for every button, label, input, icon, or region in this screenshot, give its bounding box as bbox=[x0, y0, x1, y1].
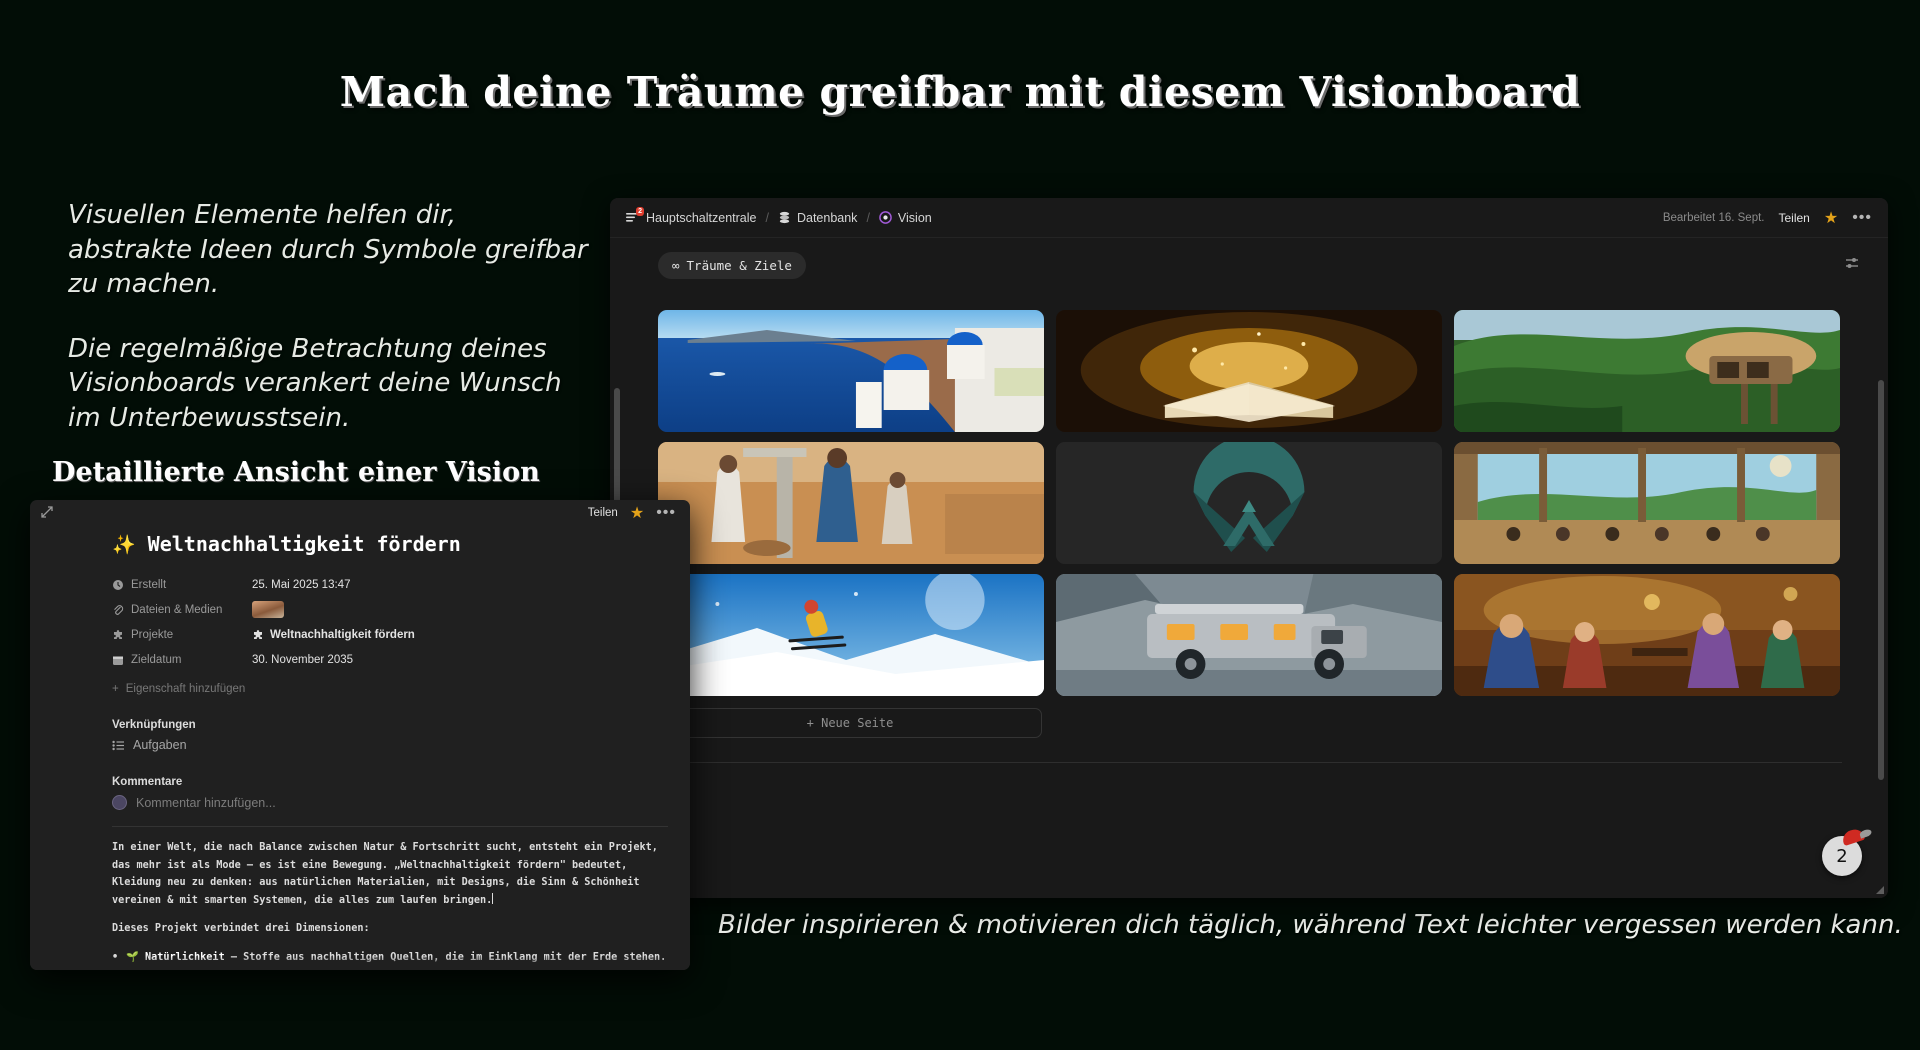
detail-share-button[interactable]: Teilen bbox=[588, 507, 618, 519]
left-section-heading: Detaillierte Ansicht einer Vision bbox=[52, 457, 540, 488]
tab-traeume-und-ziele[interactable]: ∞ Träume & Ziele bbox=[658, 252, 806, 279]
gallery-card-jungle-treehouse[interactable] bbox=[1454, 310, 1840, 432]
database-icon bbox=[778, 211, 791, 224]
property-value[interactable]: Weltnachhaltigkeit fördern bbox=[252, 629, 415, 641]
puzzle-icon bbox=[252, 629, 264, 641]
gallery-card-skiing-snow[interactable] bbox=[658, 574, 1044, 696]
avatar-initial: 2 bbox=[1836, 846, 1847, 867]
detail-panel-content: ✨ Weltnachhaltigkeit fördern Erstellt 25… bbox=[30, 526, 690, 966]
gallery-app-window: 2 Hauptschaltzentrale / Datenbank / bbox=[610, 198, 1888, 898]
sliders-filter-icon[interactable] bbox=[1844, 255, 1860, 276]
detail-title-text: Weltnachhaltigkeit fördern bbox=[148, 532, 461, 556]
content-clip-fade bbox=[30, 956, 690, 970]
last-edited-label: Bearbeitet 16. Sept. bbox=[1663, 212, 1765, 224]
tab-label: Träume & Ziele bbox=[687, 258, 792, 273]
property-key-label: Dateien & Medien bbox=[131, 604, 222, 616]
gallery-scrollbar-right[interactable] bbox=[1878, 380, 1884, 780]
glowing-book-thumbnail bbox=[1056, 310, 1442, 432]
detail-title: ✨ Weltnachhaltigkeit fördern bbox=[112, 532, 668, 556]
file-thumbnail[interactable] bbox=[252, 601, 284, 618]
santa-hat-icon bbox=[1841, 827, 1866, 846]
breadcrumb-label: Datenbank bbox=[797, 211, 857, 225]
task-list-icon bbox=[112, 739, 125, 752]
body-paragraph-1: In einer Welt, die nach Balance zwischen… bbox=[112, 839, 668, 909]
overland-camper-thumbnail bbox=[1056, 574, 1442, 696]
avatar bbox=[112, 795, 127, 810]
resize-handle[interactable] bbox=[1876, 886, 1884, 894]
gallery-card-artisan-workshop[interactable] bbox=[1454, 574, 1840, 696]
gallery-card-glowing-book[interactable] bbox=[1056, 310, 1442, 432]
avatar[interactable]: 2 bbox=[1822, 836, 1862, 876]
gallery-card-teal-logo-mark[interactable] bbox=[1056, 442, 1442, 564]
view-tab-row: ∞ Träume & Ziele bbox=[610, 238, 1888, 287]
property-value bbox=[252, 601, 284, 618]
gallery-card-overland-camper[interactable] bbox=[1056, 574, 1442, 696]
breadcrumb-label: Vision bbox=[898, 211, 932, 225]
calendar-icon bbox=[112, 654, 124, 666]
breadcrumb-item-vision[interactable]: Vision bbox=[879, 211, 932, 225]
property-key: Projekte bbox=[112, 629, 252, 641]
add-comment-row[interactable]: Kommentar hinzufügen... bbox=[112, 795, 668, 810]
breadcrumb-item-datenbank[interactable]: Datenbank bbox=[778, 211, 857, 225]
vision-detail-panel: Teilen ★ ••• ✨ Weltnachhaltigkeit förder… bbox=[30, 500, 690, 970]
breadcrumb-separator: / bbox=[765, 211, 768, 225]
text-caret bbox=[492, 893, 493, 904]
yoga-retreat-hall-thumbnail bbox=[1454, 442, 1840, 564]
property-value: 30. November 2035 bbox=[252, 654, 353, 666]
water-well-africa-thumbnail bbox=[658, 442, 1044, 564]
artisan-workshop-thumbnail bbox=[1454, 574, 1840, 696]
share-button[interactable]: Teilen bbox=[1778, 211, 1809, 225]
santorini-greece-thumbnail bbox=[658, 310, 1044, 432]
content-divider bbox=[652, 762, 1842, 763]
add-property-label: Eigenschaft hinzufügen bbox=[126, 683, 246, 695]
topbar-actions: Bearbeitet 16. Sept. Teilen ★ ••• bbox=[1663, 208, 1872, 228]
star-icon[interactable]: ★ bbox=[1824, 208, 1838, 228]
breadcrumb-label: Hauptschaltzentrale bbox=[646, 211, 756, 225]
body-paragraph-2: Dieses Projekt verbindet drei Dimensione… bbox=[112, 920, 668, 938]
detail-body-text[interactable]: In einer Welt, die nach Balance zwischen… bbox=[112, 839, 668, 966]
breadcrumb-item-hauptschaltzentrale[interactable]: 2 Hauptschaltzentrale bbox=[624, 210, 756, 226]
property-key: Dateien & Medien bbox=[112, 604, 252, 616]
property-key-label: Zieldatum bbox=[131, 654, 182, 666]
more-dots-icon[interactable]: ••• bbox=[1852, 214, 1872, 222]
gallery-card-water-well-africa[interactable] bbox=[658, 442, 1044, 564]
property-row-erstellt[interactable]: Erstellt 25. Mai 2025 13:47 bbox=[112, 572, 668, 597]
links-item-label: Aufgaben bbox=[133, 738, 187, 752]
document-badge-icon: 2 bbox=[624, 210, 640, 226]
paperclip-icon bbox=[112, 604, 124, 616]
puzzle-icon bbox=[112, 629, 124, 641]
relation-label: Weltnachhaltigkeit fördern bbox=[270, 629, 415, 641]
infinity-icon: ∞ bbox=[672, 258, 680, 273]
clock-icon bbox=[112, 579, 124, 591]
breadcrumb: 2 Hauptschaltzentrale / Datenbank / bbox=[624, 210, 932, 226]
sparkles-icon: ✨ bbox=[112, 533, 136, 556]
add-property-button[interactable]: + Eigenschaft hinzufügen bbox=[112, 683, 668, 695]
property-value: 25. Mai 2025 13:47 bbox=[252, 579, 350, 591]
property-row-projekte[interactable]: Projekte Weltnachhaltigkeit fördern bbox=[112, 622, 668, 647]
page-title: Mach deine Träume greifbar mit diesem Vi… bbox=[0, 68, 1920, 116]
gallery-grid bbox=[658, 310, 1840, 696]
plus-icon: + bbox=[112, 683, 119, 695]
more-dots-icon[interactable]: ••• bbox=[656, 509, 676, 517]
left-copy-block: Visuellen Elemente helfen dir, abstrakte… bbox=[68, 198, 588, 465]
gallery-card-santorini-greece[interactable] bbox=[658, 310, 1044, 432]
property-key-label: Projekte bbox=[131, 629, 173, 641]
detail-panel-actions: Teilen ★ ••• bbox=[588, 503, 676, 523]
left-copy-paragraph-2: Die regelmäßige Betrachtung deines Visio… bbox=[68, 332, 588, 436]
comment-input-placeholder[interactable]: Kommentar hinzufügen... bbox=[136, 796, 276, 810]
jungle-treehouse-thumbnail bbox=[1454, 310, 1840, 432]
links-item-aufgaben[interactable]: Aufgaben bbox=[112, 738, 668, 752]
detail-panel-topbar: Teilen ★ ••• bbox=[30, 500, 690, 526]
breadcrumb-separator: / bbox=[866, 211, 869, 225]
new-page-button[interactable]: + Neue Seite bbox=[658, 708, 1042, 738]
property-row-zieldatum[interactable]: Zieldatum 30. November 2035 bbox=[112, 647, 668, 672]
left-copy-paragraph-1: Visuellen Elemente helfen dir, abstrakte… bbox=[68, 198, 588, 302]
property-key: Erstellt bbox=[112, 579, 252, 591]
expand-arrows-icon[interactable] bbox=[40, 505, 54, 522]
property-key: Zieldatum bbox=[112, 654, 252, 666]
comments-section-title: Kommentare bbox=[112, 776, 668, 788]
section-divider bbox=[112, 826, 668, 827]
teal-logo-mark-thumbnail bbox=[1056, 442, 1442, 564]
skiing-snow-thumbnail bbox=[658, 574, 1044, 696]
gallery-card-yoga-retreat-hall[interactable] bbox=[1454, 442, 1840, 564]
bottom-caption: Bilder inspirieren & motivieren dich täg… bbox=[718, 910, 1903, 940]
breadcrumb-badge-count: 2 bbox=[636, 207, 644, 216]
app-body: ∞ Träume & Ziele bbox=[610, 238, 1888, 898]
links-section-title: Verknüpfungen bbox=[112, 719, 668, 731]
property-row-dateien-medien[interactable]: Dateien & Medien bbox=[112, 597, 668, 622]
star-icon[interactable]: ★ bbox=[630, 503, 644, 523]
target-circle-icon bbox=[879, 211, 892, 224]
app-topbar: 2 Hauptschaltzentrale / Datenbank / bbox=[610, 198, 1888, 238]
property-key-label: Erstellt bbox=[131, 579, 166, 591]
